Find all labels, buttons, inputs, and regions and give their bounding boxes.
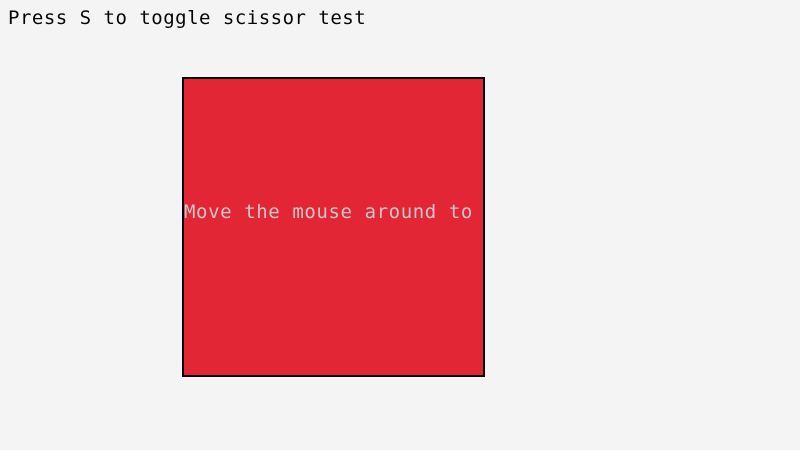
app-canvas[interactable]: Press S to toggle scissor test Move the …: [0, 0, 800, 450]
hud-instruction-text: Press S to toggle scissor test: [8, 6, 366, 30]
scissor-clipped-text: Move the mouse around to r: [184, 201, 485, 223]
scissor-rectangle[interactable]: Move the mouse around to r: [182, 77, 485, 377]
